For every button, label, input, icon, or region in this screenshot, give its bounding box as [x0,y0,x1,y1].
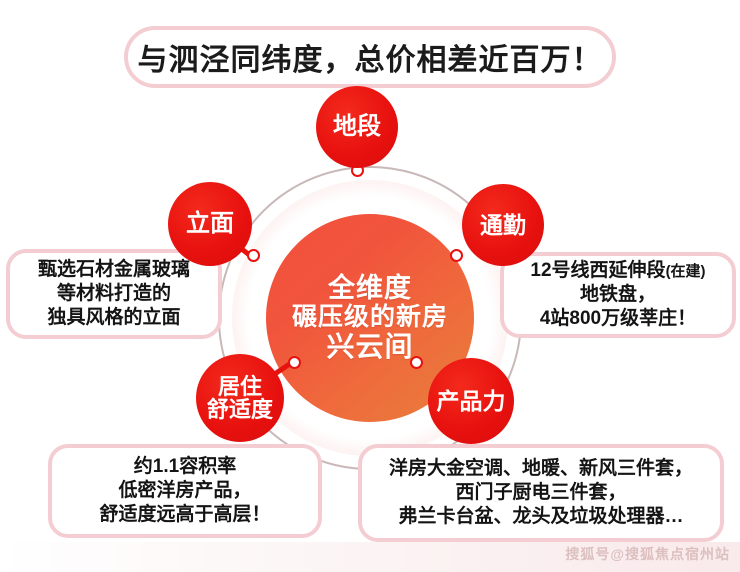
callout-commute: 12号线西延伸段(在建) 地铁盘， 4站800万级莘庄！ [500,252,736,338]
badge-comfort-label-1: 居住 [218,375,262,398]
headline-bubble: 与泗泾同纬度，总价相差近百万！ [124,26,616,88]
callout-product-line-1: 洋房大金空调、地暖、新风三件套， [389,457,693,481]
badge-facade-label: 立面 [186,211,234,236]
badge-location[interactable]: 地段 [316,86,398,168]
watermark-text: 搜狐号@搜狐焦点宿州站 [565,544,730,564]
badge-comfort[interactable]: 居住 舒适度 [196,354,284,442]
badge-location-label: 地段 [333,114,381,139]
callout-product: 洋房大金空调、地暖、新风三件套， 西门子厨电三件套， 弗兰卡台盆、龙头及垃圾处理… [358,444,724,542]
callout-facade-line-2: 等材料打造的 [57,282,171,306]
callout-comfort: 约1.1容积率 低密洋房产品， 舒适度远高于高层！ [48,444,322,538]
infographic-canvas: 与泗泾同纬度，总价相差近百万！ 全维度 碾压级的新房 兴云间 地段 立面 通勤 [0,0,740,572]
callout-facade-line-3: 独具风格的立面 [47,306,180,330]
callout-product-line-3: 弗兰卡台盆、龙头及垃圾处理器… [398,505,683,529]
callout-facade: 甄选石材金属玻璃 等材料打造的 独具风格的立面 [6,249,222,339]
callout-commute-line-2: 地铁盘， [580,283,656,307]
center-line-3: 兴云间 [326,331,413,362]
callout-commute-line-1: 12号线西延伸段(在建) [530,259,705,283]
callout-commute-line-3: 4站800万级莘庄！ [540,307,696,331]
headline-text: 与泗泾同纬度，总价相差近百万！ [138,35,603,79]
callout-comfort-line-3: 舒适度远高于高层！ [99,503,270,527]
badge-product-label: 产品力 [437,389,506,413]
center-line-1: 全维度 [328,273,412,303]
badge-product[interactable]: 产品力 [428,358,514,444]
callout-commute-line-1-main: 12号线西延伸段 [530,260,665,281]
callout-comfort-line-2: 低密洋房产品， [118,479,251,503]
callout-comfort-line-1: 约1.1容积率 [134,455,236,479]
badge-facade[interactable]: 立面 [168,182,252,266]
callout-facade-line-1: 甄选石材金属玻璃 [38,258,190,282]
badge-comfort-label-2: 舒适度 [207,398,273,421]
badge-commute[interactable]: 通勤 [462,184,544,266]
callout-commute-line-1-note: (在建) [666,263,706,280]
callout-product-line-2: 西门子厨电三件套， [455,481,626,505]
badge-commute-label: 通勤 [480,213,526,237]
center-line-2: 碾压级的新房 [292,303,448,331]
